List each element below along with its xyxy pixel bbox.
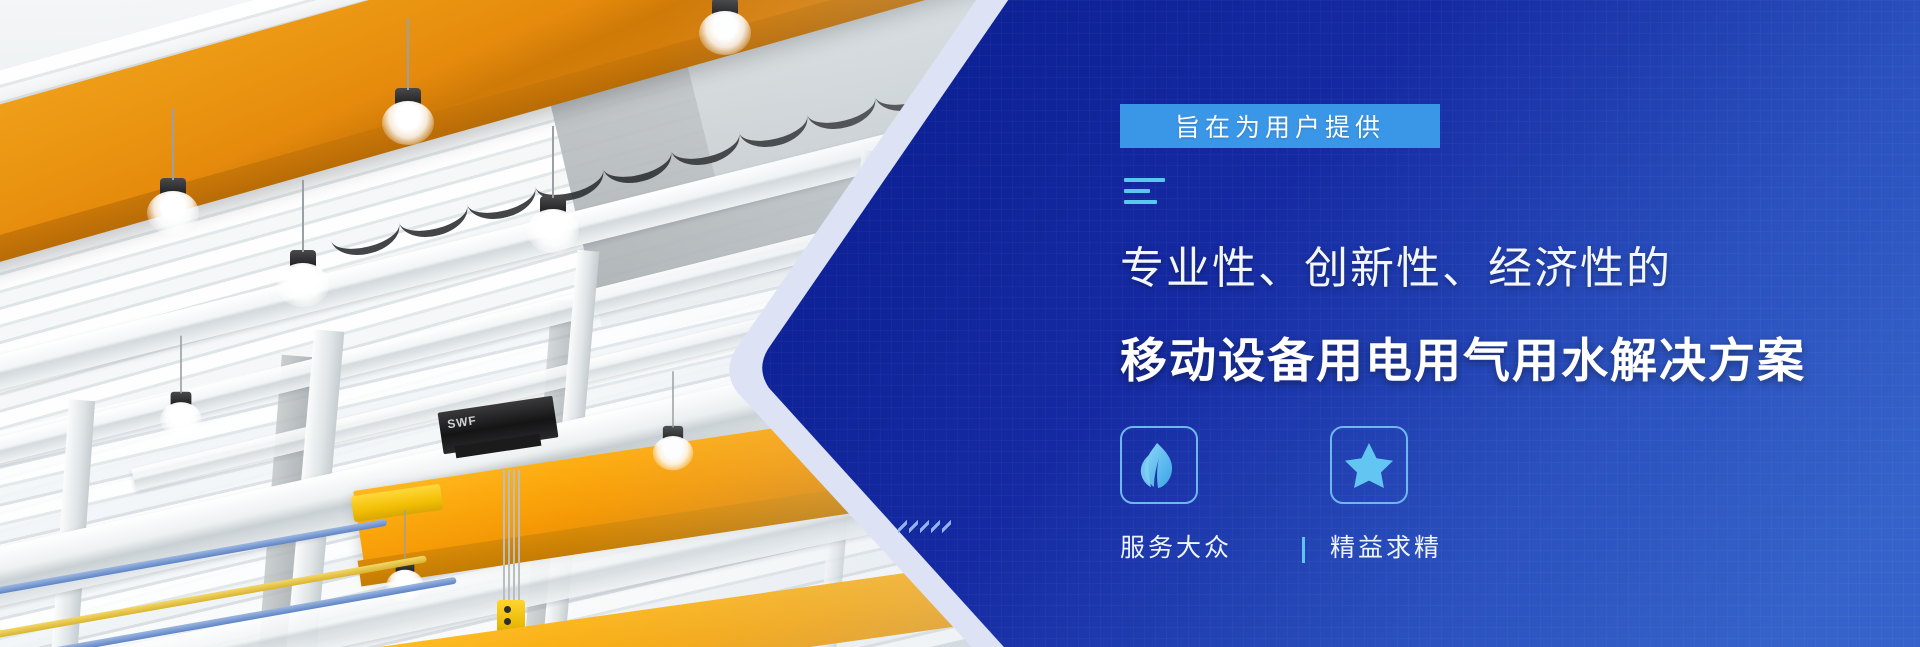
star-icon-box (1330, 426, 1408, 504)
headline-line-1: 专业性、创新性、经济性的 (1120, 232, 1672, 296)
hero-banner: 旨在为用户提供 专业性、创新性、经济性的 移动设备用电用气用水解决方案 服务大众 (0, 0, 1920, 647)
tagline-badge: 旨在为用户提供 (1120, 104, 1440, 148)
leaf-icon-box (1120, 426, 1198, 504)
feature-item-service[interactable]: 服务大众 (1120, 426, 1330, 564)
feature-label-excellence: 精益求精 (1330, 528, 1540, 564)
leaf-icon (1137, 441, 1181, 489)
tagline-badge-label: 旨在为用户提供 (1175, 108, 1385, 144)
feature-list: 服务大众 精益求精 (1120, 426, 1540, 564)
star-icon (1345, 442, 1393, 488)
chevron-arrows-icon (898, 519, 951, 533)
feature-item-excellence[interactable]: 精益求精 (1330, 426, 1540, 564)
headline-line-2: 移动设备用电用气用水解决方案 (1120, 322, 1806, 391)
feature-label-service: 服务大众 (1120, 528, 1330, 564)
feature-separator (1302, 537, 1305, 563)
hero-content: 旨在为用户提供 专业性、创新性、经济性的 移动设备用电用气用水解决方案 服务大众 (1120, 0, 1920, 647)
triple-line-decoration-icon (1124, 178, 1165, 211)
